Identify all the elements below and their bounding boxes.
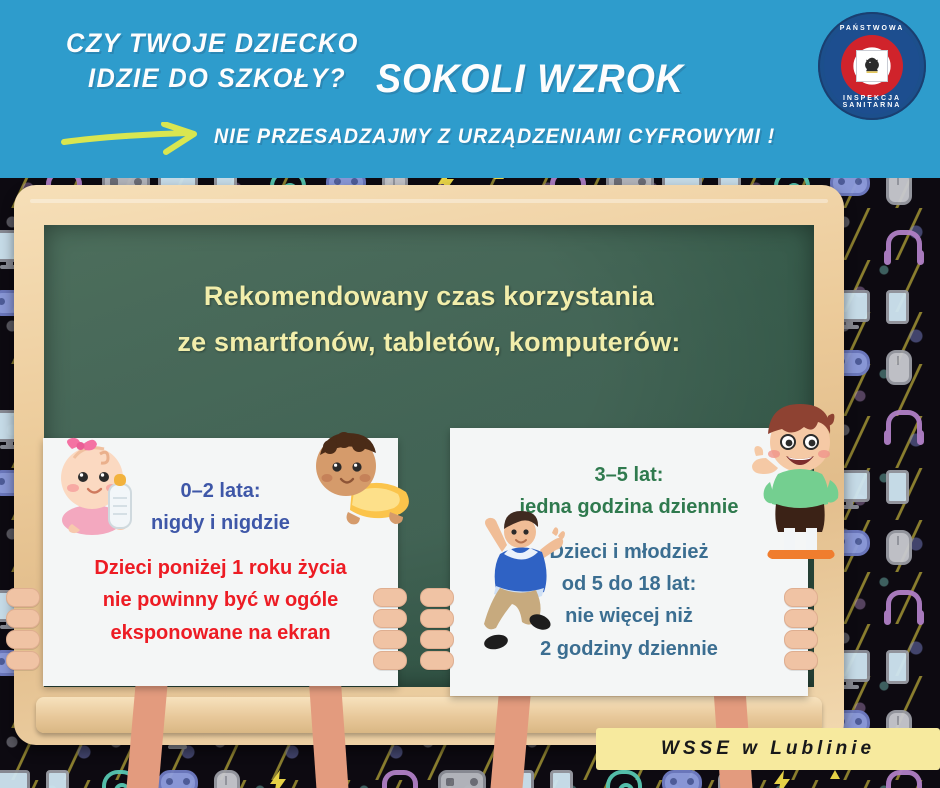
headphones-icon — [886, 410, 922, 437]
wifi-icon — [606, 770, 642, 788]
hand-left-inner — [373, 588, 407, 672]
card-right-detail-line-3: nie więcej niż — [565, 600, 693, 632]
headphones-icon — [886, 230, 922, 257]
logo-text-bottom: INSPEKCJA SANITARNA — [818, 95, 926, 109]
jumping-boy-icon — [466, 500, 576, 650]
campaign-title: SOKOLI WZROK — [376, 57, 684, 102]
smartphone-icon — [886, 650, 909, 684]
handheld-console-icon — [438, 770, 486, 788]
poster-root: CZY TWOJE DZIECKO IDZIE DO SZKOŁY? SOKOL… — [0, 0, 940, 788]
card-left-age-label: 0–2 lata: — [180, 475, 260, 507]
board-title: Rekomendowany czas korzystania ze smartf… — [44, 273, 814, 366]
gamepad-icon — [158, 770, 198, 788]
headphones-icon — [382, 770, 418, 788]
monitor-icon — [0, 770, 30, 788]
sanitary-inspection-logo: PAŃSTWOWA INSPEKCJA SANITARNA — [818, 12, 926, 120]
card-right-age-label: 3–5 lat: — [595, 459, 664, 491]
headline-line-2: IDZIE DO SZKOŁY? — [88, 63, 346, 94]
card-left-warning-line-1: Dzieci poniżej 1 roku życia — [94, 552, 346, 584]
headphones-icon — [886, 770, 922, 788]
header-banner: CZY TWOJE DZIECKO IDZIE DO SZKOŁY? SOKOL… — [0, 0, 940, 178]
baby-girl-with-bottle-icon — [52, 428, 154, 540]
footer-label: WSSE w Lublinie — [661, 738, 875, 760]
board-title-line-1: Rekomendowany czas korzystania — [44, 273, 814, 319]
hand-right-outer — [784, 588, 818, 672]
card-left-age-rule: nigdy i nigdzie — [151, 507, 290, 539]
card-left-warning-line-2: nie powinny być w ogóle — [103, 584, 339, 616]
headline-line-1: CZY TWOJE DZIECKO — [66, 28, 359, 59]
smartphone-icon — [886, 470, 909, 504]
smartphone-icon — [886, 290, 909, 324]
arrow-right-icon — [60, 122, 210, 156]
boy-thumbs-up-icon — [748, 398, 852, 563]
polish-eagle-icon — [856, 50, 888, 82]
hand-left-outer — [6, 588, 40, 672]
smartphone-icon — [550, 770, 573, 788]
logo-text-top: PAŃSTWOWA — [818, 25, 926, 32]
headphones-icon — [886, 590, 922, 617]
mouse-icon — [886, 530, 912, 565]
mouse-icon — [214, 770, 240, 788]
footer-bar: WSSE w Lublinie — [596, 728, 940, 770]
logo-emblem-disc — [841, 35, 903, 97]
lightning-bolt-icon — [774, 770, 790, 788]
smartphone-icon — [46, 770, 69, 788]
lightning-bolt-icon — [270, 770, 286, 788]
triangle-icon — [830, 770, 840, 779]
gamepad-icon — [662, 770, 702, 788]
banner-subtitle: NIE PRZESADZAJMY Z URZĄDZENIAMI CYFROWYM… — [214, 125, 775, 149]
crawling-baby-icon — [312, 422, 418, 532]
board-title-line-2: ze smartfonów, tabletów, komputerów: — [44, 319, 814, 365]
card-left-warning-line-3: eksponowane na ekran — [110, 617, 330, 649]
mouse-icon — [886, 350, 912, 385]
hand-right-inner — [420, 588, 454, 672]
card-right-detail-line-2: od 5 do 18 lat: — [562, 568, 696, 600]
